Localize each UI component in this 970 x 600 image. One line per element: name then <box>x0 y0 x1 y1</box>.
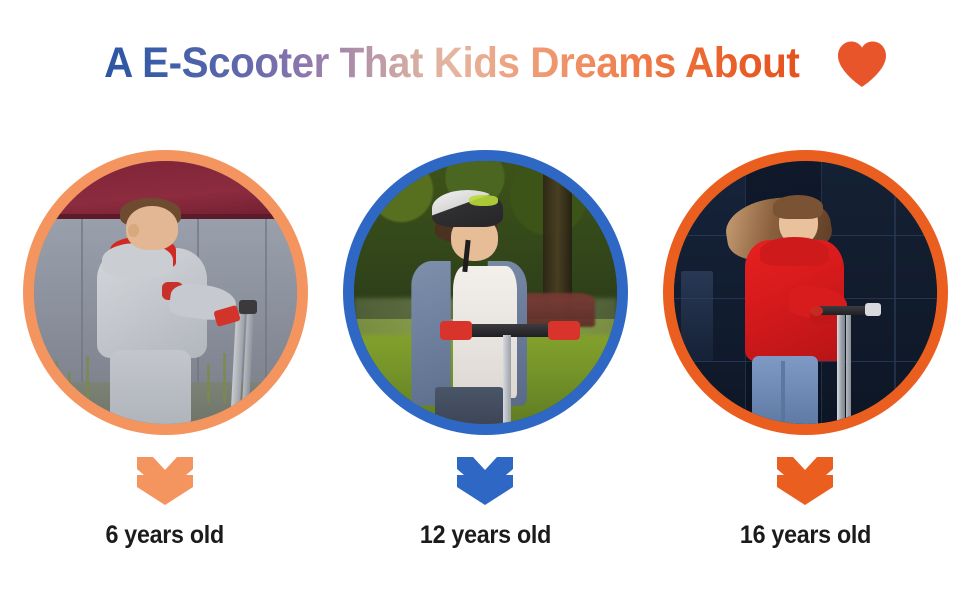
double-chevron-down-icon-16 <box>775 455 835 507</box>
age-cards-row: 6 years old <box>0 150 970 550</box>
photo-16-years <box>674 161 937 424</box>
page-title: A E-Scooter That Kids Dreams About <box>104 39 799 88</box>
age-label-16: 16 years old <box>739 521 870 550</box>
photo-circle-6 <box>23 150 308 435</box>
age-card-16: 16 years old <box>663 150 948 550</box>
scene-boy-grey-wall <box>34 161 297 424</box>
heart-icon <box>836 40 888 88</box>
age-label-6: 6 years old <box>106 521 224 550</box>
scene-boy-helmet-park <box>354 161 617 424</box>
header: A E-Scooter That Kids Dreams About <box>0 38 970 88</box>
double-chevron-down-icon-12 <box>455 455 515 507</box>
age-card-12: 12 years old <box>343 150 628 550</box>
photo-12-years <box>354 161 617 424</box>
scene-girl-red-hoodie-city <box>674 161 937 424</box>
double-chevron-down-icon-6 <box>135 455 195 507</box>
photo-circle-16 <box>663 150 948 435</box>
photo-6-years <box>34 161 297 424</box>
age-card-6: 6 years old <box>23 150 308 550</box>
photo-circle-12 <box>343 150 628 435</box>
age-label-12: 12 years old <box>419 521 550 550</box>
promo-banner: A E-Scooter That Kids Dreams About <box>0 0 970 600</box>
